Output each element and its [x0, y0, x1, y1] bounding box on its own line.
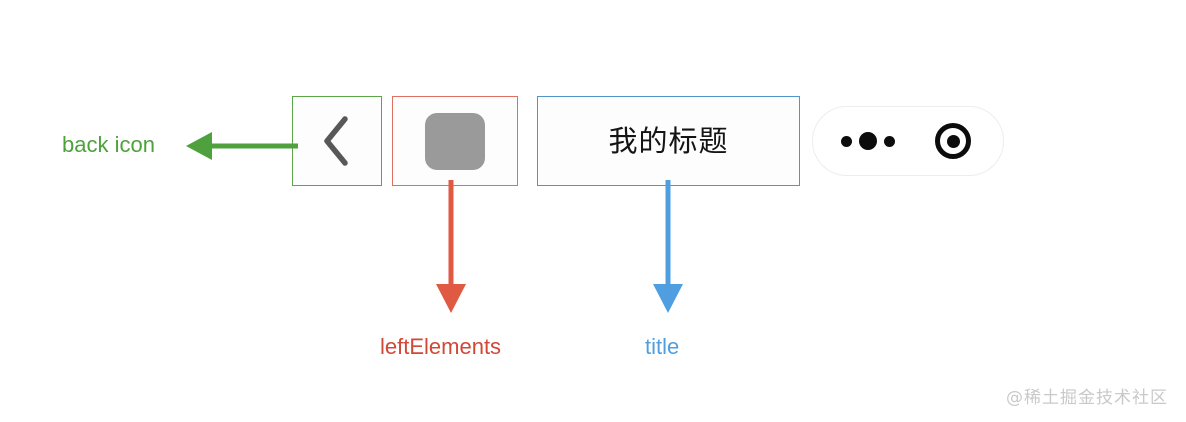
left-elements-highlight-box: [392, 96, 518, 186]
label-left-elements: leftElements: [380, 336, 501, 358]
label-title: title: [645, 336, 679, 358]
watermark: @稀土掘金技术社区: [1006, 383, 1168, 408]
wechat-capsule-button[interactable]: [812, 106, 1004, 176]
target-center-dot: [947, 135, 960, 148]
navbar-title-text: 我的标题: [608, 127, 728, 156]
left-element-placeholder[interactable]: [425, 113, 485, 170]
back-icon-highlight-box: [292, 96, 382, 186]
title-highlight-box: 我的标题: [537, 96, 800, 186]
left-elements-annotation-arrow: [428, 180, 474, 315]
diagram-canvas: 我的标题 back icon leftElements title @稀土掘金技…: [0, 0, 1186, 422]
dot-right: [884, 136, 895, 147]
target-circle-icon[interactable]: [935, 123, 971, 159]
back-icon-annotation-arrow: [180, 128, 300, 164]
dot-left: [841, 136, 852, 147]
dot-center: [859, 132, 877, 150]
title-annotation-arrow: [645, 180, 691, 315]
more-dots-icon[interactable]: [841, 132, 895, 150]
label-back-icon: back icon: [62, 134, 155, 156]
back-chevron-icon[interactable]: [314, 111, 360, 171]
